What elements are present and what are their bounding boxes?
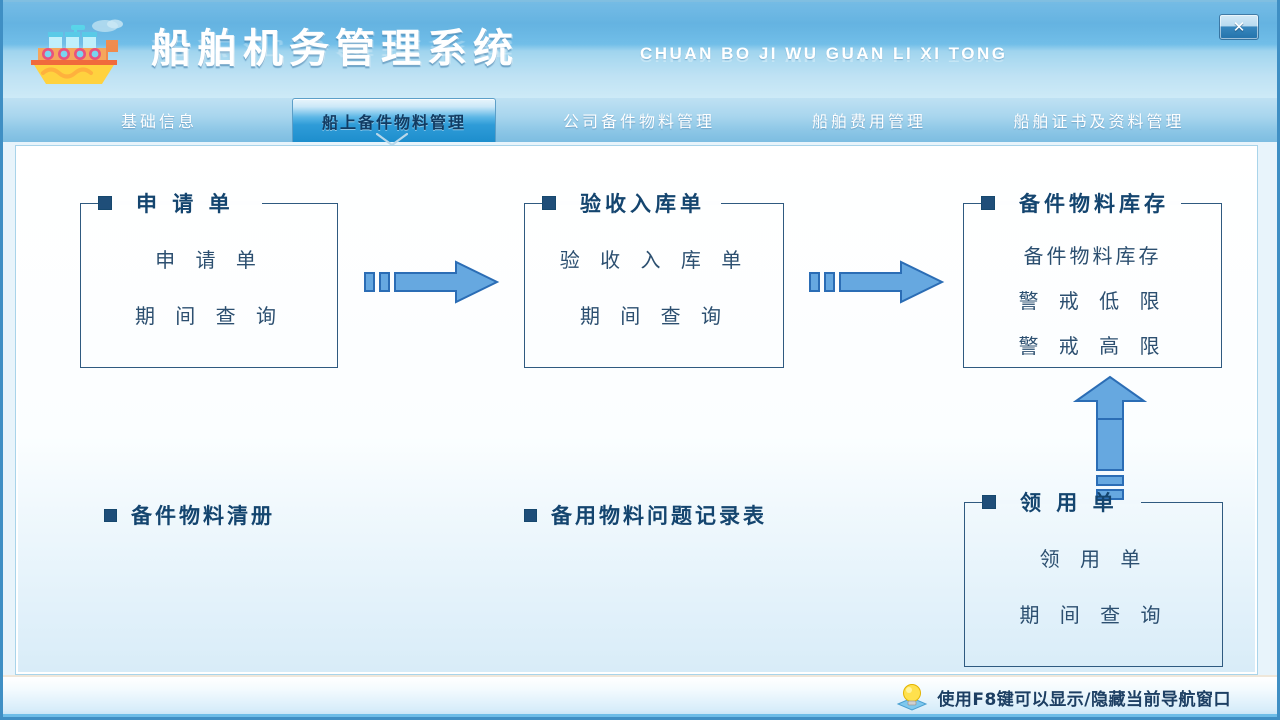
group-box-links: 申 请 单 期 间 查 询 — [80, 241, 338, 332]
status-bar: 使用F8键可以显示/隐藏当前导航窗口 — [3, 675, 1277, 717]
bullet-square-icon — [982, 495, 996, 509]
status-hint-text: 使用F8键可以显示/隐藏当前导航窗口 — [937, 685, 1231, 710]
link-spare-parts-inventory[interactable]: 备件物料库存 — [1020, 237, 1166, 272]
ship-icon — [19, 10, 131, 88]
arrow-application-to-acceptance-icon — [364, 259, 500, 305]
nav-item-vessel-certificates[interactable]: 船舶证书及资料管理 — [981, 98, 1217, 142]
group-box-header: 备件物料库存 — [981, 190, 1179, 216]
link-acceptance-period-query[interactable]: 期 间 查 询 — [576, 297, 732, 332]
link-application-form[interactable]: 申 请 单 — [151, 241, 267, 276]
group-box-header: 领 用 单 — [982, 489, 1128, 515]
group-box-links: 验 收 入 库 单 期 间 查 询 — [524, 241, 784, 332]
nav-label: 船上备件物料管理 — [322, 109, 466, 133]
main-navigation: 基础信息 船上备件物料管理 公司备件物料管理 船舶费用管理 船舶证书及资料管理 — [3, 98, 1277, 142]
nav-item-vessel-expense[interactable]: 船舶费用管理 — [783, 98, 955, 142]
link-requisition-period-query[interactable]: 期 间 查 询 — [1015, 596, 1171, 631]
group-box-title: 领 用 单 — [1008, 487, 1118, 517]
close-button[interactable]: ✕ — [1219, 14, 1259, 40]
group-box-requisition-form: 领 用 单 领 用 单 期 间 查 询 — [964, 502, 1223, 667]
nav-label: 船舶费用管理 — [812, 108, 926, 132]
group-box-header: 验收入库单 — [542, 190, 715, 216]
bullet-square-icon — [524, 509, 537, 522]
bullet-square-icon — [542, 196, 556, 210]
group-box-spare-parts-inventory: 备件物料库存 备件物料库存 警 戒 低 限 警 戒 高 限 — [963, 203, 1222, 368]
header-top-line — [3, 0, 1277, 2]
arrow-acceptance-to-inventory-icon — [809, 259, 945, 305]
link-application-period-query[interactable]: 期 间 查 询 — [131, 297, 287, 332]
group-box-links: 领 用 单 期 间 查 询 — [964, 540, 1223, 631]
navigation-content-panel: 申 请 单 申 请 单 期 间 查 询 验收入库单 — [15, 145, 1258, 675]
group-box-title: 申 请 单 — [124, 188, 234, 218]
item-label: 备件物料清册 — [131, 500, 275, 530]
application-window: 船舶机务管理系统 船舶机务管理系统 CHUAN BO JI WU GUAN LI… — [0, 0, 1280, 720]
item-spare-material-issue-log[interactable]: 备用物料问题记录表 — [524, 500, 767, 530]
arrow-requisition-to-inventory-icon — [1073, 375, 1147, 501]
app-title-cn: 船舶机务管理系统 — [151, 16, 519, 74]
item-label: 备用物料问题记录表 — [551, 500, 767, 530]
link-requisition-form[interactable]: 领 用 单 — [1036, 540, 1152, 575]
link-high-alert-limit[interactable]: 警 戒 高 限 — [1014, 327, 1170, 362]
lightbulb-icon — [895, 682, 929, 712]
bullet-square-icon — [104, 509, 117, 522]
link-low-alert-limit[interactable]: 警 戒 低 限 — [1014, 282, 1170, 317]
link-acceptance-storage-form[interactable]: 验 收 入 库 单 — [556, 241, 752, 276]
group-box-title: 备件物料库存 — [1007, 188, 1169, 218]
app-header: 船舶机务管理系统 船舶机务管理系统 CHUAN BO JI WU GUAN LI… — [3, 0, 1277, 98]
nav-item-basic-info[interactable]: 基础信息 — [87, 98, 231, 142]
group-box-acceptance-storage-form: 验收入库单 验 收 入 库 单 期 间 查 询 — [524, 203, 784, 368]
item-spare-parts-register[interactable]: 备件物料清册 — [104, 500, 275, 530]
bullet-square-icon — [98, 196, 112, 210]
group-box-header: 申 请 单 — [98, 190, 244, 216]
bullet-square-icon — [981, 196, 995, 210]
nav-label: 公司备件物料管理 — [563, 108, 715, 132]
app-title-en: CHUAN BO JI WU GUAN LI XI TONG — [640, 44, 1007, 64]
group-box-title: 验收入库单 — [568, 188, 705, 218]
nav-label: 基础信息 — [121, 108, 197, 132]
close-icon: ✕ — [1233, 20, 1246, 35]
group-box-application-form: 申 请 单 申 请 单 期 间 查 询 — [80, 203, 338, 368]
group-box-links: 备件物料库存 警 戒 低 限 警 戒 高 限 — [963, 237, 1222, 362]
nav-label: 船舶证书及资料管理 — [1013, 108, 1184, 132]
nav-item-company-spare-parts[interactable]: 公司备件物料管理 — [537, 98, 741, 142]
